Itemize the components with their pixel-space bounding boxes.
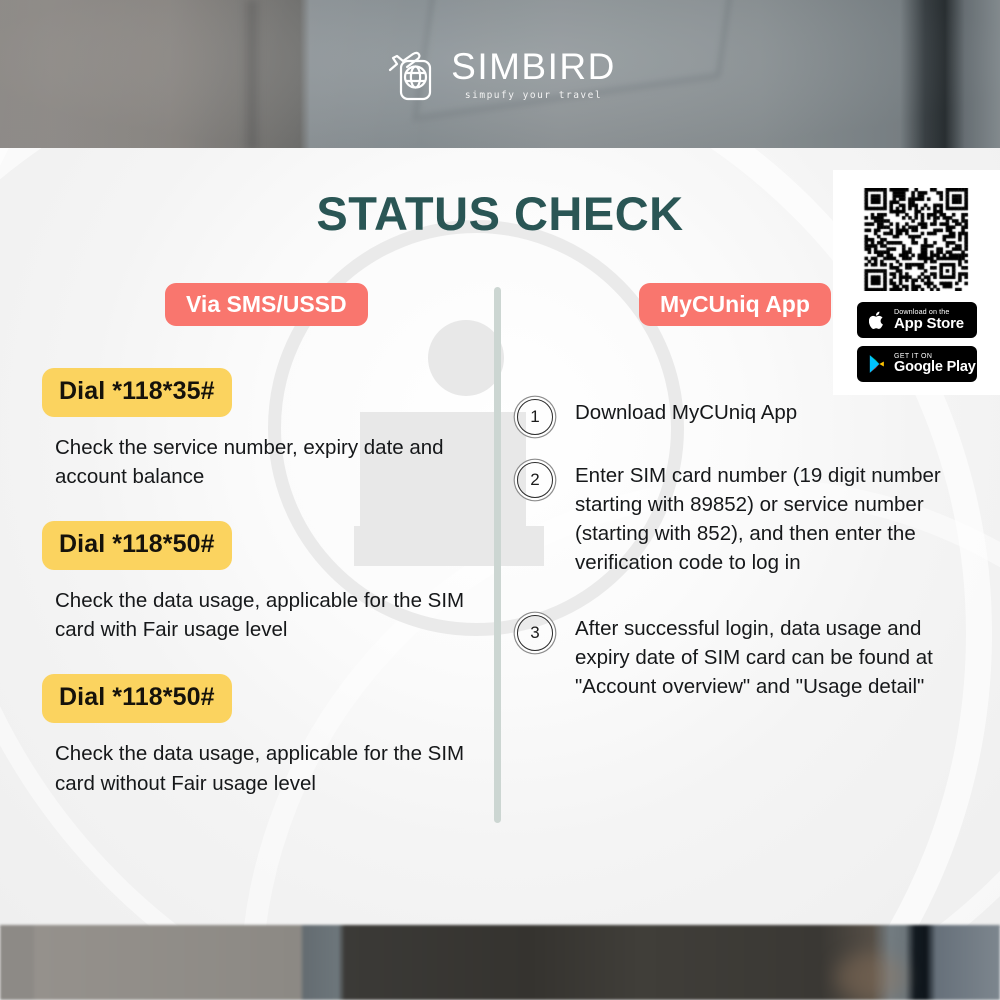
dial-code-badge: Dial *118*50#: [42, 674, 232, 723]
app-store-labels: Download on the App Store: [894, 308, 964, 331]
app-store-button[interactable]: Download on the App Store: [857, 302, 977, 338]
passport-globe-airplane-icon: [384, 46, 442, 102]
badge-mycuniq-app: MyCUniq App: [639, 283, 831, 326]
step-number: 1: [517, 399, 553, 435]
apple-icon: [866, 310, 888, 331]
dial-block: Dial *118*35# Check the service number, …: [42, 368, 487, 491]
brand-tagline: simpufy your travel: [465, 90, 602, 101]
dial-block: Dial *118*50# Check the data usage, appl…: [42, 674, 487, 797]
dial-description: Check the data usage, applicable for the…: [55, 586, 487, 644]
step-text: After successful login, data usage and e…: [575, 617, 933, 698]
step-item: 1 Download MyCUniq App: [517, 398, 947, 427]
step-item: 3 After successful login, data usage and…: [517, 614, 947, 701]
brand-wordmark: SIMBIRD simpufy your travel: [451, 48, 616, 101]
download-card: Download on the App Store GET IT ON Goog…: [833, 170, 1000, 395]
badge-via-sms-ussd: Via SMS/USSD: [165, 283, 368, 326]
dial-code-badge: Dial *118*35#: [42, 368, 232, 417]
google-play-labels: GET IT ON Google Play: [894, 353, 976, 376]
google-play-button[interactable]: GET IT ON Google Play: [857, 346, 977, 382]
brand-name: SIMBIRD: [451, 48, 616, 85]
dial-code-badge: Dial *118*50#: [42, 521, 232, 570]
sms-ussd-column: Dial *118*35# Check the service number, …: [42, 368, 487, 820]
background-smudge: [835, 953, 905, 1000]
step-text: Enter SIM card number (19 digit number s…: [575, 464, 941, 574]
dial-description: Check the service number, expiry date an…: [55, 433, 487, 491]
dial-description: Check the data usage, applicable for the…: [55, 739, 487, 797]
mycuniq-steps-column: 1 Download MyCUniq App 2 Enter SIM card …: [517, 398, 947, 735]
step-item: 2 Enter SIM card number (19 digit number…: [517, 461, 947, 577]
qr-code[interactable]: [856, 188, 976, 291]
bottom-photo-background: [0, 925, 1000, 1000]
app-store-big-label: App Store: [894, 316, 964, 332]
poster-root: SIMBIRD simpufy your travel STATUS CHECK…: [0, 0, 1000, 1000]
dial-block: Dial *118*50# Check the data usage, appl…: [42, 521, 487, 644]
google-play-big-label: Google Play: [894, 360, 976, 375]
column-divider: [494, 287, 501, 823]
step-number: 3: [517, 615, 553, 651]
brand-logo: SIMBIRD simpufy your travel: [0, 46, 1000, 102]
google-play-triangle-icon: [866, 354, 888, 374]
step-text: Download MyCUniq App: [575, 401, 797, 424]
step-number: 2: [517, 462, 553, 498]
